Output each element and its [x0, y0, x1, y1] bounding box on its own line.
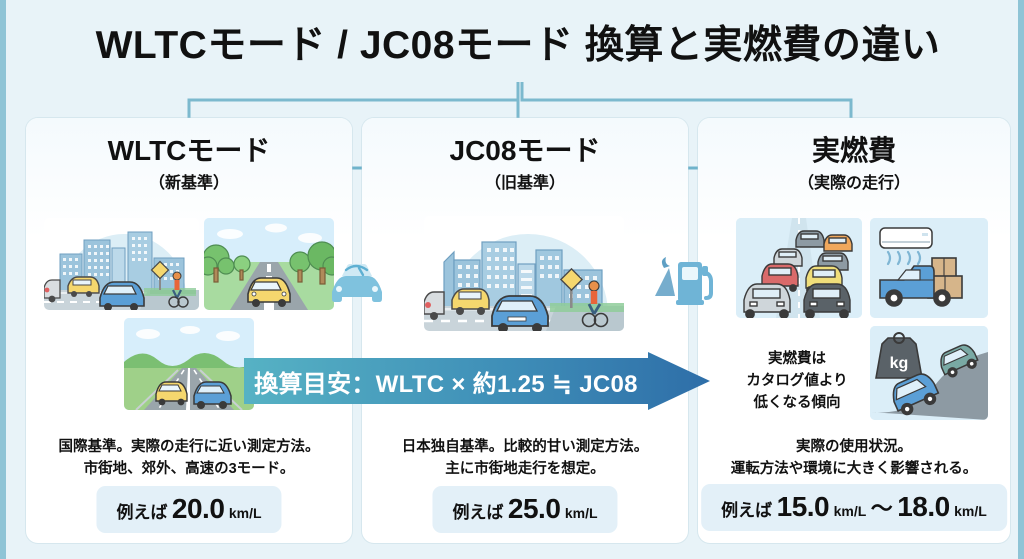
city-street-illustration: [44, 218, 199, 310]
example-value: 20.0: [172, 493, 225, 524]
column-subtitle: （新基準）: [26, 169, 352, 193]
note-line: 低くなる傾向: [722, 393, 872, 415]
column-description-real: 実際の使用状況。 運転方法や環境に大きく影響される。: [698, 436, 1010, 481]
highway-illustration: [124, 318, 254, 410]
note-line: カタログ値より: [722, 371, 872, 393]
column-title: JC08モード: [362, 136, 688, 165]
column-jc08: JC08モード （旧基準）: [362, 118, 688, 543]
conversion-banner-text: 換算目安：WLTC × 約1.25 ≒ JC08: [244, 352, 648, 410]
example-unit: km/L: [229, 505, 262, 521]
traffic-jam-illustration: [736, 218, 862, 318]
city-street-illustration: [424, 216, 624, 331]
example-badge-jc08: 例えば 25.0 km/L: [432, 486, 617, 533]
example-value-high: 18.0: [897, 491, 950, 522]
column-title: 実燃費: [698, 136, 1010, 165]
infographic-canvas: WLTCモード / JC08モード 換算と実燃費の違い WLTCモード （: [0, 0, 1024, 559]
column-subtitle: （実際の走行）: [698, 169, 1010, 193]
real-fuel-note: 実燃費は カタログ値より 低くなる傾向: [722, 349, 872, 414]
description-line: 実際の使用状況。: [698, 436, 1010, 458]
car-speedometer-icon: [326, 248, 388, 310]
column-title: WLTCモード: [26, 136, 352, 165]
column-header-jc08: JC08モード （旧基準）: [362, 118, 688, 193]
example-badge-real: 例えば 15.0 km/L 〜 18.0 km/L: [701, 484, 1007, 531]
suburban-road-illustration: [204, 218, 334, 310]
note-line: 実燃費は: [722, 349, 872, 371]
column-description-jc08: 日本独自基準。比較的甘い測定方法。 主に市街地走行を想定。: [362, 436, 688, 481]
air-conditioner-truck-illustration: [870, 218, 988, 318]
example-unit: km/L: [565, 505, 598, 521]
example-separator: 〜: [871, 496, 893, 521]
description-line: 市街地、郊外、高速の3モード。: [26, 458, 352, 480]
column-wltc: WLTCモード （新基準）: [26, 118, 352, 543]
column-header-real: 実燃費 （実際の走行）: [698, 118, 1010, 193]
description-line: 主に市街地走行を想定。: [362, 458, 688, 480]
example-label: 例えば: [721, 501, 772, 520]
example-value: 25.0: [508, 493, 561, 524]
description-line: 日本独自基準。比較的甘い測定方法。: [362, 436, 688, 458]
svg-text:kg: kg: [890, 355, 909, 372]
example-badge-wltc: 例えば 20.0 km/L: [96, 486, 281, 533]
column-real: 実燃費 （実際の走行）: [698, 118, 1010, 543]
example-label: 例えば: [116, 503, 167, 522]
column-subtitle: （旧基準）: [362, 169, 688, 193]
uphill-load-illustration: kg: [870, 326, 988, 420]
example-label: 例えば: [452, 503, 503, 522]
fuel-pump-icon: [651, 248, 713, 314]
column-header-wltc: WLTCモード （新基準）: [26, 118, 352, 193]
example-value-low: 15.0: [777, 491, 830, 522]
description-line: 国際基準。実際の走行に近い測定方法。: [26, 436, 352, 458]
description-line: 運転方法や環境に大きく影響される。: [698, 458, 1010, 480]
example-unit-high: km/L: [954, 503, 987, 519]
column-description-wltc: 国際基準。実際の走行に近い測定方法。 市街地、郊外、高速の3モード。: [26, 436, 352, 481]
example-unit-low: km/L: [834, 503, 867, 519]
conversion-banner: 換算目安：WLTC × 約1.25 ≒ JC08: [244, 352, 710, 410]
